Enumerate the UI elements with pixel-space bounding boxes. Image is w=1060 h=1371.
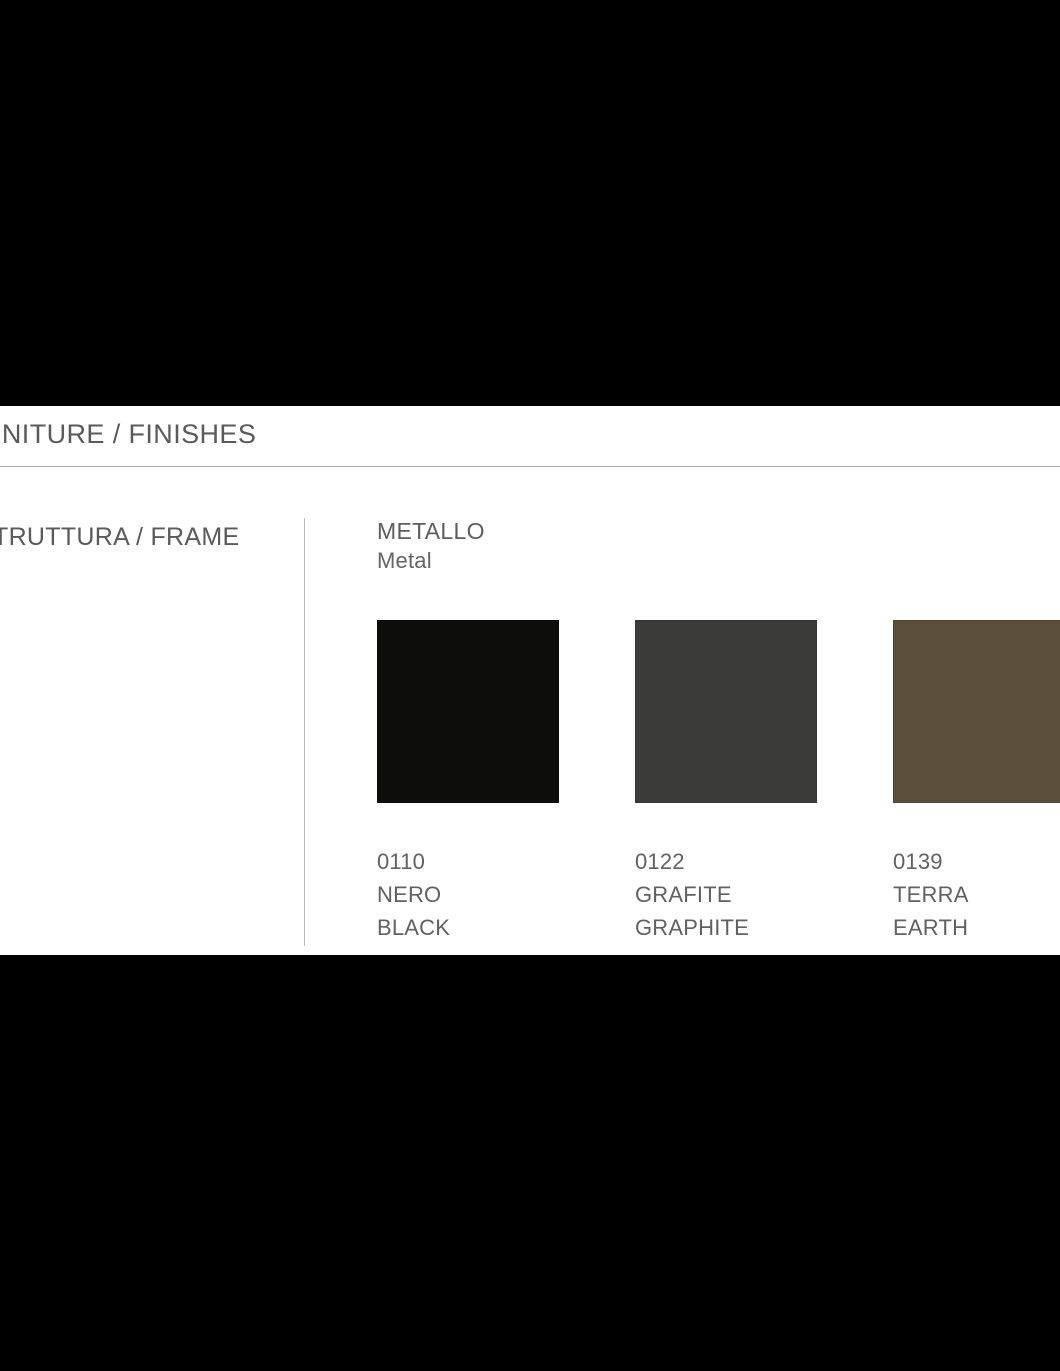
swatch-code: 0139: [893, 845, 1060, 878]
swatch-caption: 0139 TERRA EARTH: [893, 845, 1060, 944]
document-sheet: INITURE / FINISHES TRUTTURA / FRAME META…: [0, 406, 1060, 955]
swatch-cell[interactable]: 0122 GRAFITE GRAPHITE: [635, 620, 817, 944]
color-swatch-chip[interactable]: [893, 620, 1060, 803]
swatch-cell[interactable]: 0139 TERRA EARTH: [893, 620, 1060, 944]
swatch-cell[interactable]: 0110 NERO BLACK: [377, 620, 559, 944]
category-label-frame: TRUTTURA / FRAME: [0, 521, 239, 553]
color-swatch-chip[interactable]: [635, 620, 817, 803]
column-divider: [304, 518, 305, 946]
swatch-name-en: GRAPHITE: [635, 911, 817, 944]
swatch-name-en: EARTH: [893, 911, 1060, 944]
material-name-it: METALLO: [377, 516, 1060, 546]
swatch-row: 0110 NERO BLACK 0122 GRAFITE GRAPHITE 01…: [377, 620, 1060, 944]
swatch-name-it: NERO: [377, 878, 559, 911]
material-name-en: Metal: [377, 546, 1060, 575]
swatch-caption: 0110 NERO BLACK: [377, 845, 559, 944]
letterbox-top: [0, 0, 1060, 406]
color-swatch-chip[interactable]: [377, 620, 559, 803]
swatch-name-en: BLACK: [377, 911, 559, 944]
swatch-code: 0122: [635, 845, 817, 878]
swatch-name-it: GRAFITE: [635, 878, 817, 911]
swatch-caption: 0122 GRAFITE GRAPHITE: [635, 845, 817, 944]
title-divider-rule: [0, 466, 1060, 467]
letterbox-bottom: [0, 955, 1060, 1371]
page-title: INITURE / FINISHES: [0, 417, 256, 451]
swatch-code: 0110: [377, 845, 559, 878]
page-root: INITURE / FINISHES TRUTTURA / FRAME META…: [0, 0, 1060, 1371]
material-group: METALLO Metal: [377, 516, 1060, 575]
swatch-name-it: TERRA: [893, 878, 1060, 911]
